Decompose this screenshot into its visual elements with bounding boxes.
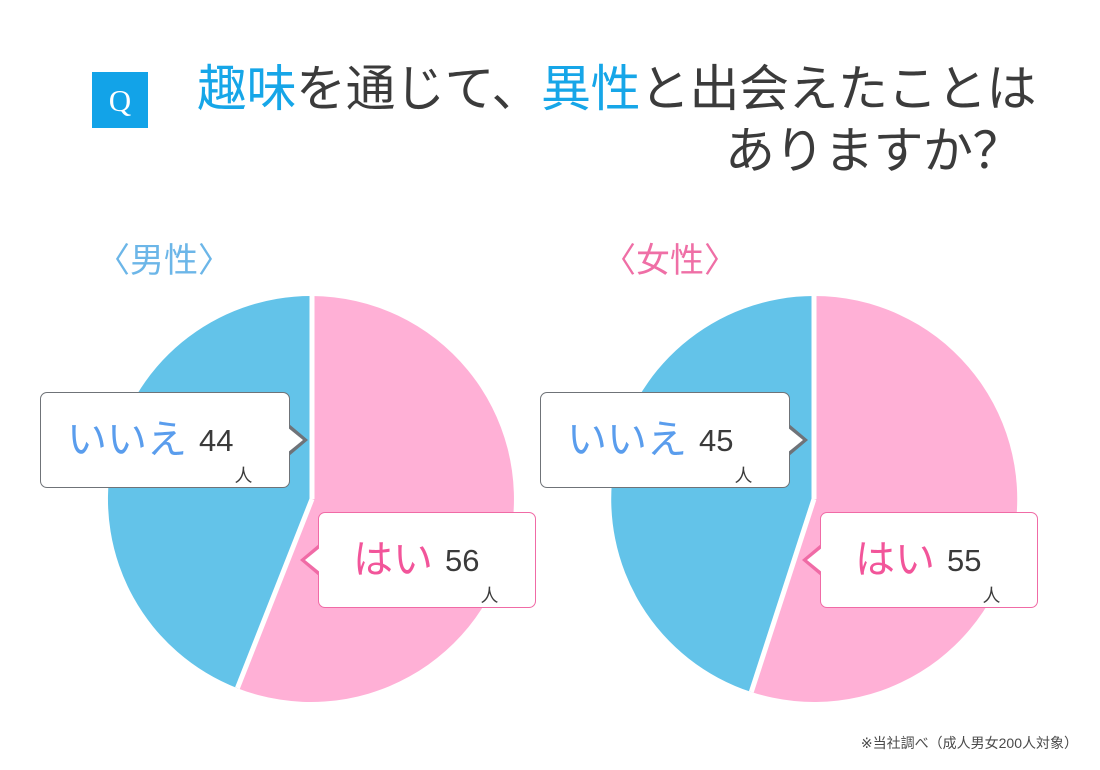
callout-male-no-count: 44	[199, 425, 233, 456]
question-line-1: 趣味を通じて、異性と出会えたことは	[0, 58, 1036, 120]
pie-chart-female	[608, 293, 1020, 705]
callout-male-no-unit: 人	[234, 467, 252, 487]
callout-male-no[interactable]: いいえ 44 人	[40, 392, 290, 488]
callout-female-no-answer: いいえ	[567, 420, 687, 460]
question-line-1-end: と出会えたことは	[640, 61, 1036, 117]
pie-chart-male	[106, 293, 518, 705]
question-line-2: ありますか？	[0, 120, 1036, 182]
pie-male-svg	[106, 293, 518, 705]
callout-male-yes[interactable]: はい 56 人	[318, 512, 536, 608]
callout-female-no[interactable]: いいえ 45 人	[540, 392, 790, 488]
callout-female-yes-count: 55	[947, 545, 981, 576]
question-keyword-hobby: 趣味	[197, 61, 296, 117]
page-title: 趣味を通じて、異性と出会えたことは ありますか？	[0, 58, 1036, 182]
callout-female-yes-unit: 人	[982, 587, 1000, 607]
callout-female-yes[interactable]: はい 55 人	[820, 512, 1038, 608]
callout-male-no-answer: いいえ	[67, 420, 187, 460]
question-keyword-opposite-sex: 異性	[541, 61, 640, 117]
gender-label-male: 〈男性〉	[96, 240, 232, 282]
callout-male-no-arrow-inner	[287, 427, 303, 453]
callout-male-yes-arrow-inner	[305, 547, 321, 573]
callout-male-yes-answer: はい	[353, 540, 433, 580]
question-line-1-mid: を通じて、	[296, 61, 541, 117]
callout-male-yes-count: 56	[445, 545, 479, 576]
gender-label-female: 〈女性〉	[602, 240, 738, 282]
callout-female-no-count: 45	[699, 425, 733, 456]
callout-female-yes-answer: はい	[855, 540, 935, 580]
pie-female-svg	[608, 293, 1020, 705]
callout-female-yes-arrow-inner	[807, 547, 823, 573]
callout-male-yes-unit: 人	[480, 587, 498, 607]
callout-female-no-arrow-inner	[787, 427, 803, 453]
callout-female-no-unit: 人	[734, 467, 752, 487]
survey-footnote: ※当社調べ（成人男女200人対象）	[861, 734, 1078, 752]
